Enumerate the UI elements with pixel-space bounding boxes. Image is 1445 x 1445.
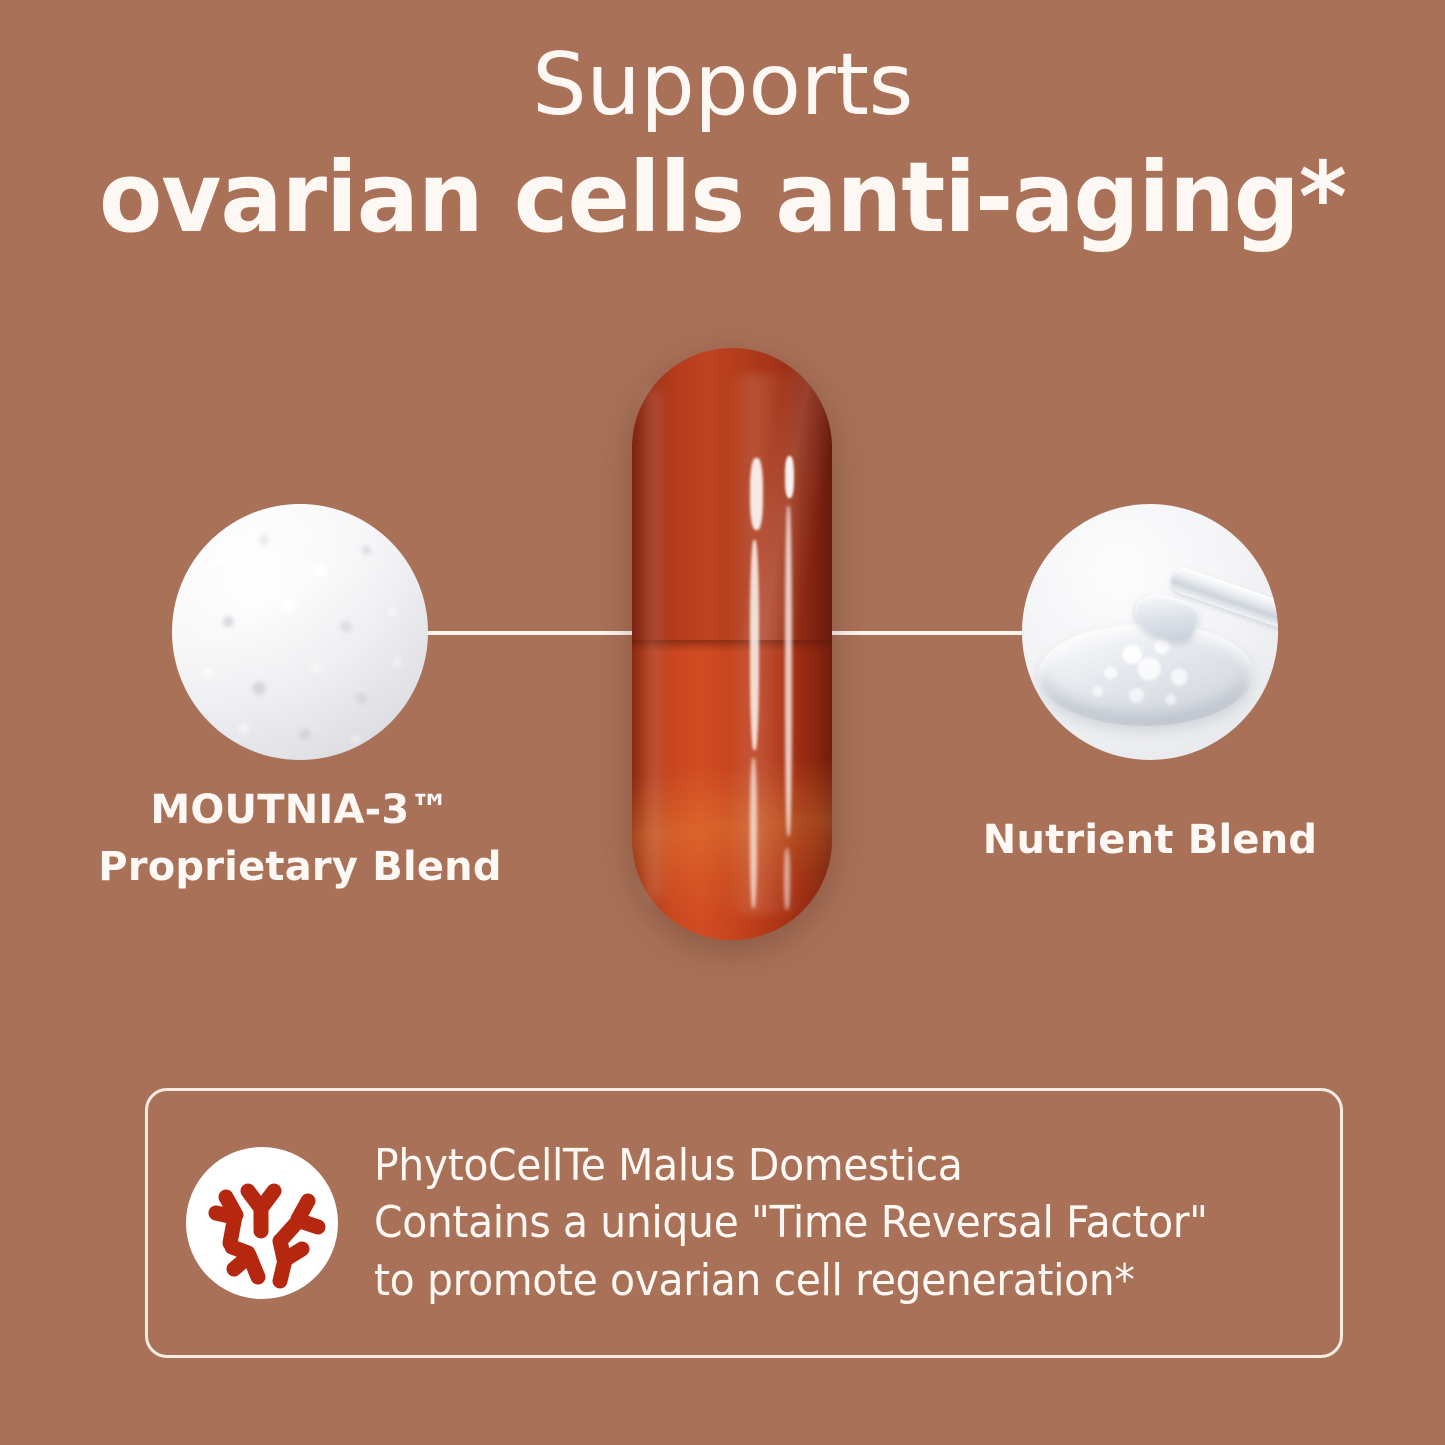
capsule-highlight <box>750 458 763 530</box>
red-cells-icon <box>186 1147 338 1299</box>
page-headline: Supports ovarian cells anti-aging* <box>0 0 1445 253</box>
feature-callout-box: PhytoCellTe Malus Domestica Contains a u… <box>145 1088 1343 1358</box>
ingredient-label-nutrient: Nutrient Blend <box>940 812 1360 869</box>
capsule-highlight <box>785 506 792 836</box>
feature-line-1: PhytoCellTe Malus Domestica <box>374 1137 1244 1194</box>
capsule-rim-light <box>640 388 666 900</box>
ingredient-label-moutnia-line-1: MOUTNIA-3™ <box>150 787 449 833</box>
feature-callout-text: PhytoCellTe Malus Domestica Contains a u… <box>374 1137 1310 1309</box>
ingredient-image-white-powder <box>172 504 428 760</box>
capsule-highlight <box>750 540 759 750</box>
ingredient-label-moutnia-line-2: Proprietary Blend <box>98 844 501 890</box>
feature-line-3: to promote ovarian cell regeneration* <box>374 1252 1244 1309</box>
ingredient-label-moutnia: MOUTNIA-3™ Proprietary Blend <box>40 782 560 896</box>
red-capsule-icon <box>632 348 832 940</box>
ingredient-image-nutrient-gel <box>1022 504 1278 760</box>
white-powder-icon <box>172 504 428 760</box>
capsule-highlight <box>750 758 757 908</box>
clear-gel-dropper-icon <box>1022 504 1278 760</box>
feature-line-2: Contains a unique "Time Reversal Factor" <box>374 1194 1244 1251</box>
gel-bubbles-shape <box>1038 624 1252 726</box>
headline-line-2: ovarian cells anti-aging* <box>36 144 1409 253</box>
headline-line-1: Supports <box>0 40 1445 130</box>
ingredient-label-nutrient-line-1: Nutrient Blend <box>983 817 1317 863</box>
capsule-highlight <box>784 848 790 910</box>
capsule-highlight <box>785 456 794 498</box>
